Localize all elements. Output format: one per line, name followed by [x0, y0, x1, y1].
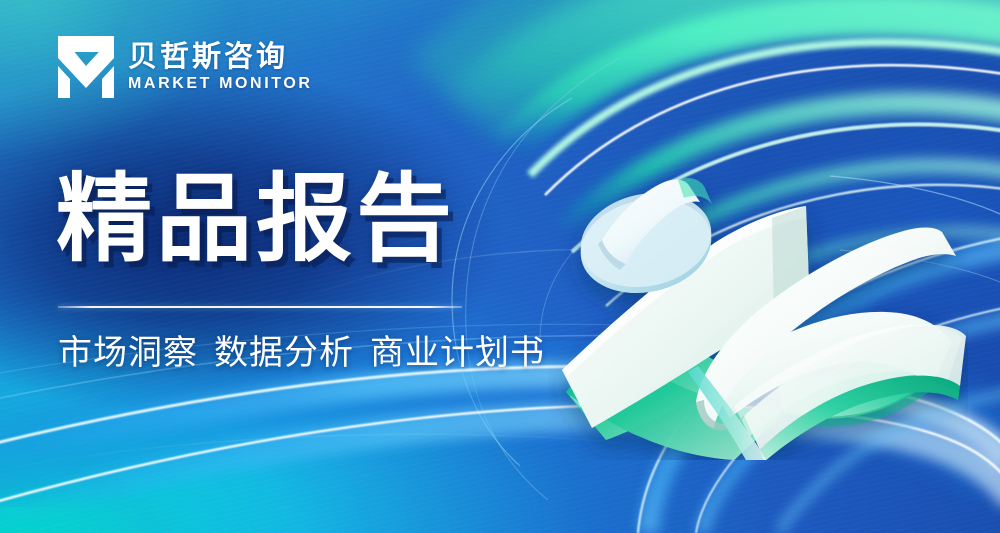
- subtitle-item-1: 市场洞察: [58, 334, 198, 372]
- logo-company-name-cn: 贝哲斯咨询: [128, 43, 313, 72]
- title-divider: [58, 306, 462, 308]
- market-monitor-m-logo-icon: [58, 36, 114, 98]
- logo-company-name-en: MARKET MONITOR: [128, 76, 313, 92]
- report-banner: 贝哲斯咨询 MARKET MONITOR 精品报告 市场洞察数据分析商业计划书: [0, 0, 1000, 533]
- brand-logo[interactable]: 贝哲斯咨询 MARKET MONITOR: [58, 36, 313, 98]
- subtitle: 市场洞察数据分析商业计划书: [58, 332, 545, 375]
- subtitle-item-3: 商业计划书: [370, 334, 545, 372]
- open-book-3d-illustration: [548, 160, 968, 460]
- page-title: 精品报告: [56, 172, 456, 268]
- subtitle-item-2: 数据分析: [214, 334, 354, 372]
